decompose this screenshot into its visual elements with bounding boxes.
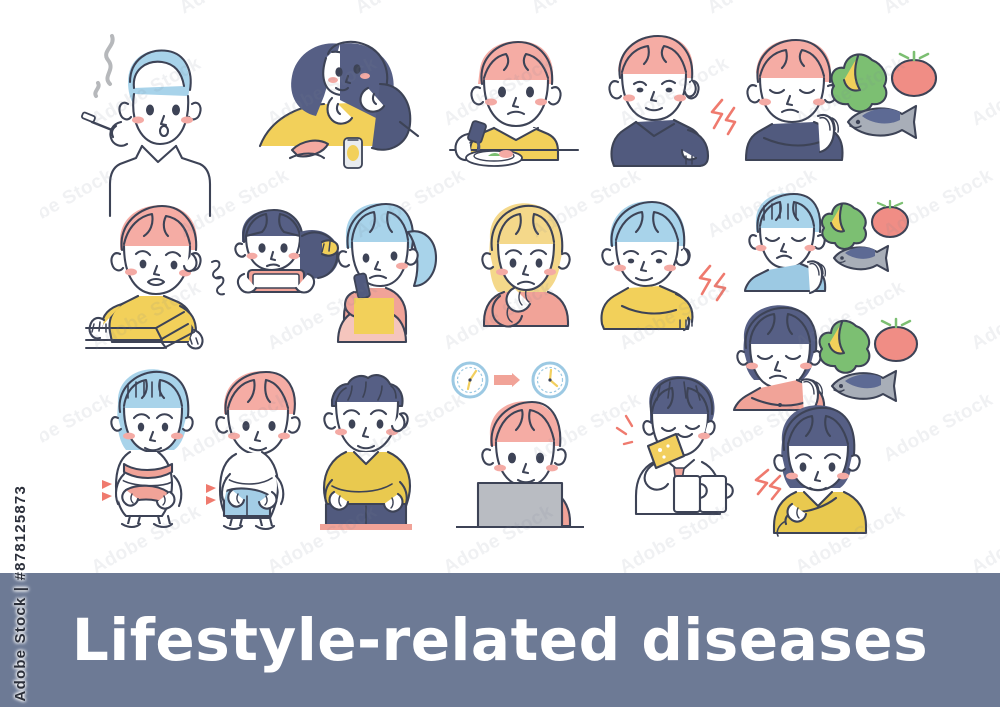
figure-lower-back-pain	[592, 194, 737, 329]
stool	[352, 296, 396, 336]
figure-snacking	[240, 28, 425, 173]
figure-belly-older-man	[308, 362, 428, 527]
figure-smoking	[72, 26, 232, 176]
figure-back-pain-man	[596, 26, 746, 166]
figure-belly-woman	[96, 364, 216, 529]
figure-salty-food	[444, 30, 584, 165]
stock-watermark-sidebar: Adobe Stock | #878125873	[0, 0, 40, 707]
figure-refusing-food-2	[742, 186, 942, 291]
laptop	[452, 477, 587, 535]
figure-shoulder-pain	[746, 398, 886, 533]
page-title: Lifestyle-related diseases	[72, 611, 928, 669]
sidebar-label-wrap: Adobe Stock | #878125873	[0, 1, 40, 701]
figure-refusing-food-1	[742, 30, 972, 160]
illustration-sheet: Adobe StockAdobe StockAdobe StockAdobe S…	[0, 0, 1000, 707]
figure-drinking	[618, 372, 748, 517]
sidebar-asset-label: Adobe Stock | #878125873	[12, 485, 29, 701]
title-banner: Lifestyle-related diseases	[0, 573, 1000, 707]
figure-belly-man	[200, 364, 320, 529]
figure-worried-woman	[470, 196, 585, 326]
figure-refusing-food-3	[730, 300, 945, 410]
stairs-steps	[84, 306, 214, 350]
